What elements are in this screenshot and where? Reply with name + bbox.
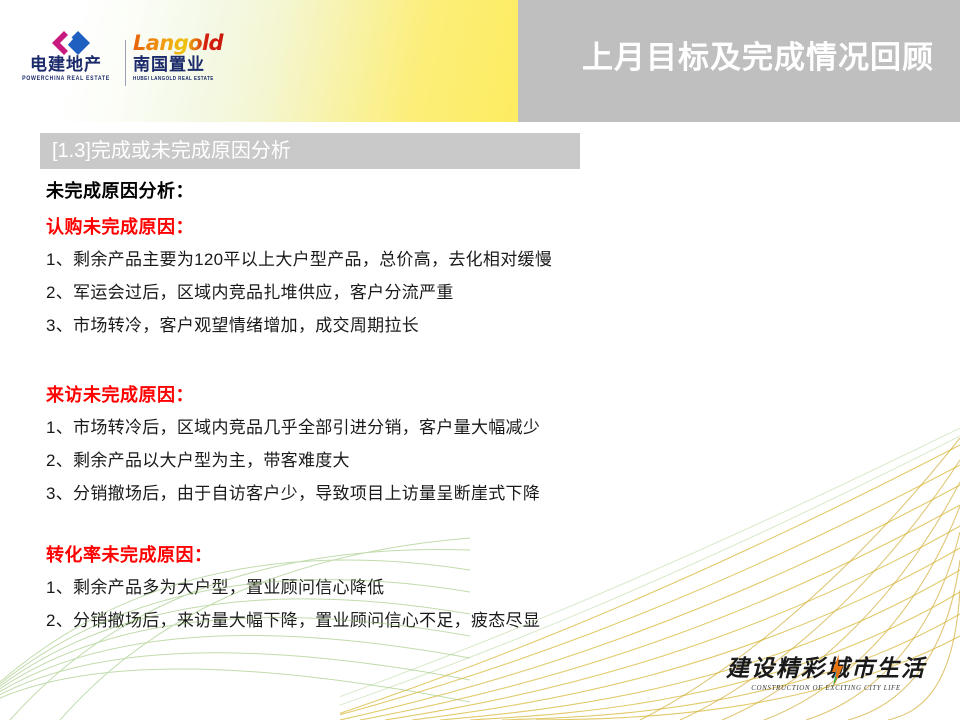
list-item: 2、剩余产品以大户型为主，带客难度大 — [46, 452, 746, 469]
logo-langold: Langold 南国置业 HUBEI LANGOLD REAL ESTATE — [133, 30, 233, 88]
logo-powerchina-cn: 电建地产 — [14, 57, 118, 75]
logo-langold-wordmark: Langold — [133, 30, 233, 56]
brand-logo: 电建地产 POWERCHINA REAL ESTATE Langold 南国置业… — [14, 28, 233, 88]
diamond-mark-icon — [40, 30, 96, 56]
lead-title: 未完成原因分析： — [46, 182, 746, 200]
logo-powerchina-en: POWERCHINA REAL ESTATE — [14, 76, 118, 83]
logo-langold-en: HUBEI LANGOLD REAL ESTATE — [133, 76, 233, 82]
logo-divider — [125, 40, 126, 86]
slide-root: 上月目标及完成情况回顾 电建地产 POWERCHINA REAL ESTATE … — [0, 0, 960, 720]
list-item: 3、市场转冷，客户观望情绪增加，成交周期拉长 — [46, 317, 746, 334]
footer-slogan: 建设精彩城市生活 CONSTRUCTION OF EXCITING CITY L… — [710, 656, 942, 692]
lightning-bolt-icon — [830, 654, 844, 686]
group-heading: 来访未完成原因： — [46, 386, 746, 404]
reason-group-visits: 来访未完成原因： 1、市场转冷后，区域内竞品几乎全部引进分销，客户量大幅减少 2… — [46, 386, 746, 502]
slogan-cn: 建设精彩城市生活 — [710, 656, 942, 681]
section-header-bar: [1.3]完成或未完成原因分析 — [40, 133, 580, 169]
content-body: 未完成原因分析： 认购未完成原因： 1、剩余产品主要为120平以上大户型产品，总… — [46, 182, 746, 645]
group-heading: 认购未完成原因： — [46, 218, 746, 236]
reason-group-subscription: 认购未完成原因： 1、剩余产品主要为120平以上大户型产品，总价高，去化相对缓慢… — [46, 218, 746, 334]
list-item: 1、剩余产品主要为120平以上大户型产品，总价高，去化相对缓慢 — [46, 251, 746, 268]
group-spacer — [46, 350, 746, 386]
group-heading: 转化率未完成原因： — [46, 546, 746, 564]
group-spacer — [46, 518, 746, 546]
list-item: 2、军运会过后，区域内竞品扎堆供应，客户分流严重 — [46, 284, 746, 301]
logo-langold-cn: 南国置业 — [133, 57, 233, 75]
list-item: 3、分销撤场后，由于自访客户少，导致项目上访量呈断崖式下降 — [46, 485, 746, 502]
page-title: 上月目标及完成情况回顾 — [582, 42, 934, 73]
list-item: 1、剩余产品多为大户型，置业顾问信心降低 — [46, 579, 746, 596]
reason-group-conversion: 转化率未完成原因： 1、剩余产品多为大户型，置业顾问信心降低 2、分销撤场后，来… — [46, 546, 746, 629]
slogan-en: CONSTRUCTION OF EXCITING CITY LIFE — [710, 684, 942, 692]
list-item: 2、分销撤场后，来访量大幅下降，置业顾问信心不足，疲态尽显 — [46, 612, 746, 629]
logo-powerchina: 电建地产 POWERCHINA REAL ESTATE — [14, 30, 118, 88]
section-header-label: [1.3]完成或未完成原因分析 — [52, 139, 291, 163]
list-item: 1、市场转冷后，区域内竞品几乎全部引进分销，客户量大幅减少 — [46, 419, 746, 436]
